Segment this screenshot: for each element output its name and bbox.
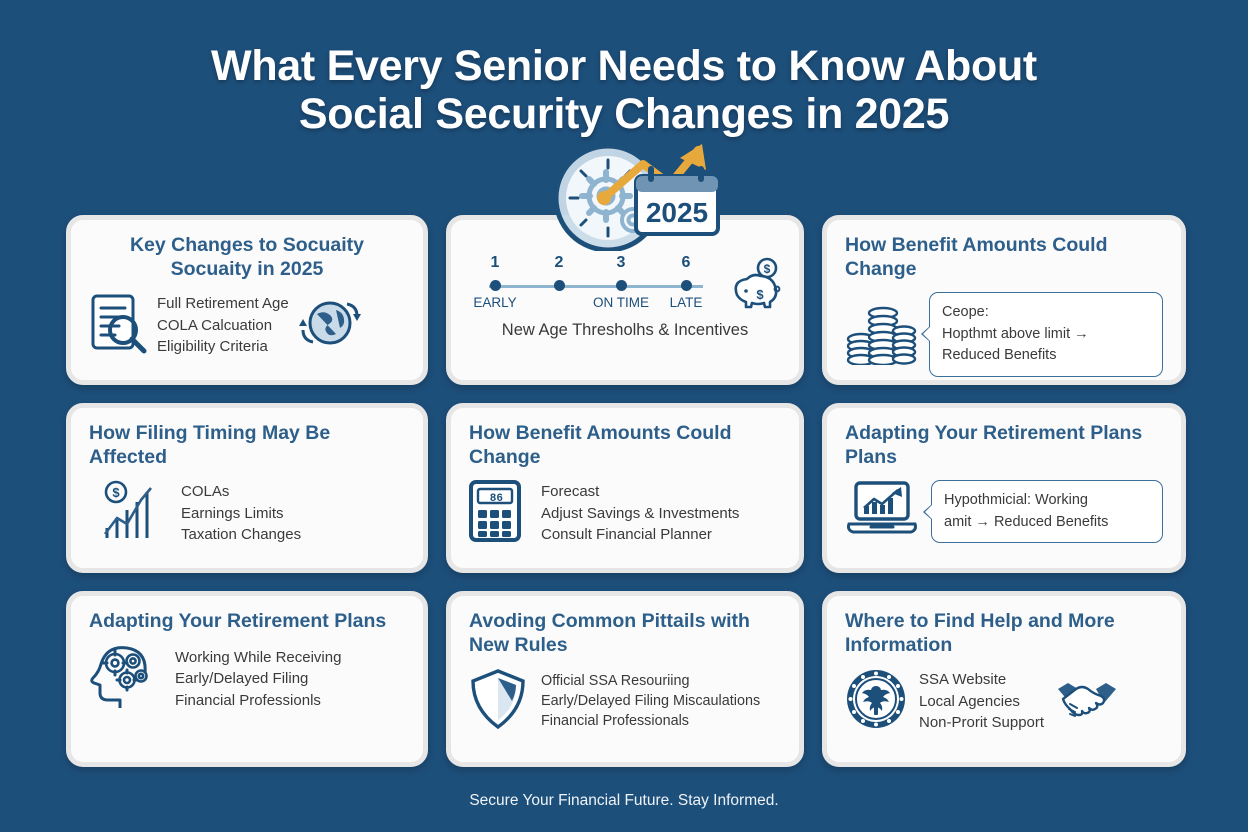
timeline-dot: [554, 280, 565, 291]
globe-arrows-icon: [297, 294, 361, 357]
head-gears-icon: [89, 643, 159, 714]
adapting-callout: Hypothmicial: Working amit → Reduced Ben…: [931, 480, 1163, 544]
bullet-item: Full Retirement Age: [157, 293, 289, 314]
timeline-number: 2: [531, 255, 587, 271]
bullet-item: Forecast: [541, 481, 739, 502]
bullet-item: Earnings Limits: [181, 503, 301, 524]
bullet-item: COLA Calcuation: [157, 315, 289, 336]
timeline-dot: [616, 280, 627, 291]
document-magnifier-icon: [89, 292, 149, 359]
piggy-bank-icon: $ $: [729, 257, 781, 316]
gear-icon: [582, 172, 630, 220]
callout-line: amit → Reduced Benefits: [944, 512, 1150, 534]
timeline-dot: [490, 280, 501, 291]
title-line-1: What Every Senior Needs to Know About: [211, 42, 1037, 90]
age-timeline: 1 EARLY 2 3 ON TIME 6: [469, 255, 719, 317]
svg-text:$: $: [764, 262, 771, 276]
card-heading: Where to Find Help and More Information: [845, 609, 1163, 658]
card-heading: How Filing Timing May Be Affected: [89, 421, 405, 470]
laptop-chart-icon: [845, 480, 919, 543]
bullet-item: Adjust Savings & Investments: [541, 503, 739, 524]
card-avoiding-pitfalls[interactable]: Avoding Common Pittails with New Rules O…: [446, 591, 804, 767]
bullet-item: Non-Prorit Support: [919, 712, 1044, 733]
bullet-item: COLAs: [181, 481, 301, 502]
card-bullets: Official SSA Resouriing Early/Delayed Fi…: [541, 671, 760, 732]
timeline-point[interactable]: 2: [531, 255, 587, 296]
timeline-point[interactable]: 1 EARLY: [467, 255, 523, 310]
bullet-item: Financial Professionls: [175, 690, 341, 711]
card-bullets: Full Retirement Age COLA Calcuation Elig…: [157, 293, 289, 357]
card-heading: Adapting Your Retirement Plans Plans: [845, 421, 1163, 470]
coin-stacks-icon: [845, 299, 917, 370]
coin-stack-right: [893, 326, 915, 363]
timeline-caption: New Age Thresholhs & Incentives: [469, 321, 781, 340]
calculator-icon: 86: [469, 480, 521, 547]
card-heading: Key Changes to Socuaity Socuaity in 2025: [89, 233, 405, 282]
card-heading: Adapting Your Retirement Plans: [89, 609, 405, 633]
timeline-number: 3: [593, 255, 649, 271]
ssa-seal-icon: [845, 668, 907, 735]
timeline-number: 1: [467, 255, 523, 271]
svg-text:$: $: [112, 485, 120, 500]
dollar-growth-chart-icon: $: [101, 480, 159, 547]
bullet-item: Working While Receiving: [175, 647, 341, 668]
card-heading: How Benefit Amounts Could Change: [845, 233, 1163, 282]
card-filing-timing[interactable]: How Filing Timing May Be Affected $: [66, 403, 428, 573]
page-title: What Every Senior Needs to Know About So…: [0, 42, 1248, 138]
card-age-thresholds[interactable]: 1 EARLY 2 3 ON TIME 6: [446, 215, 804, 385]
bullet-item: Taxation Changes: [181, 524, 301, 545]
card-where-to-find-help[interactable]: Where to Find Help and More Information: [822, 591, 1186, 767]
card-benefit-amounts-coins[interactable]: How Benefit Amounts Could Change: [822, 215, 1186, 385]
card-adapting-plans-laptop[interactable]: Adapting Your Retirement Plans Plans: [822, 403, 1186, 573]
timeline-number: 6: [658, 255, 714, 271]
bullet-item: SSA Website: [919, 669, 1044, 690]
svg-text:86: 86: [490, 493, 503, 505]
card-adapting-retirement-plans[interactable]: Adapting Your Retirement Plans: [66, 591, 428, 767]
timeline-label: ON TIME: [593, 296, 649, 310]
card-bullets: COLAs Earnings Limits Taxation Changes: [181, 481, 301, 545]
card-bullets: Working While Receiving Early/Delayed Fi…: [175, 647, 341, 711]
bullet-item: Official SSA Resouriing: [541, 671, 760, 691]
title-line-2: Social Security Changes in 2025: [0, 90, 1248, 138]
footer-tagline: Secure Your Financial Future. Stay Infor…: [0, 792, 1248, 810]
timeline-point[interactable]: 3 ON TIME: [593, 255, 649, 310]
callout-line: Hopthmt above limit →: [942, 324, 1150, 346]
growth-arrow-icon: [597, 144, 706, 205]
card-key-changes[interactable]: Key Changes to Socuaity Socuaity in 2025: [66, 215, 428, 385]
bullet-item: Eligibility Criteria: [157, 336, 289, 357]
card-heading: How Benefit Amounts Could Change: [469, 421, 781, 470]
timeline-point[interactable]: 6 LATE: [658, 255, 714, 310]
bullet-item: Financial Professionals: [541, 711, 760, 731]
handshake-icon: [1056, 675, 1118, 728]
card-bullets: Forecast Adjust Savings & Investments Co…: [541, 481, 739, 545]
timeline-label: LATE: [658, 296, 714, 310]
benefit-callout: Ceope: Hopthmt above limit → Reduced Ben…: [929, 292, 1163, 377]
callout-line: Hypothmicial: Working: [944, 490, 1150, 512]
bullet-item: Early/Delayed Filing Miscaulations: [541, 691, 760, 711]
callout-line: Ceope:: [942, 302, 1150, 324]
card-heading: Avoding Common Pittails with New Rules: [469, 609, 781, 658]
infographic-poster: What Every Senior Needs to Know About So…: [0, 0, 1248, 832]
bullet-item: Consult Financial Planner: [541, 524, 739, 545]
callout-line: Reduced Benefits: [942, 345, 1150, 367]
card-bullets: SSA Website Local Agencies Non-Prorit Su…: [919, 669, 1044, 733]
shield-icon: [469, 668, 527, 735]
svg-text:$: $: [756, 287, 764, 302]
timeline-dot: [681, 280, 692, 291]
card-grid: Key Changes to Socuaity Socuaity in 2025: [66, 215, 1190, 767]
timeline-label: EARLY: [467, 296, 523, 310]
bullet-item: Early/Delayed Filing: [175, 668, 341, 689]
bullet-item: Local Agencies: [919, 691, 1044, 712]
card-benefit-amounts-calculator[interactable]: How Benefit Amounts Could Change 86: [446, 403, 804, 573]
